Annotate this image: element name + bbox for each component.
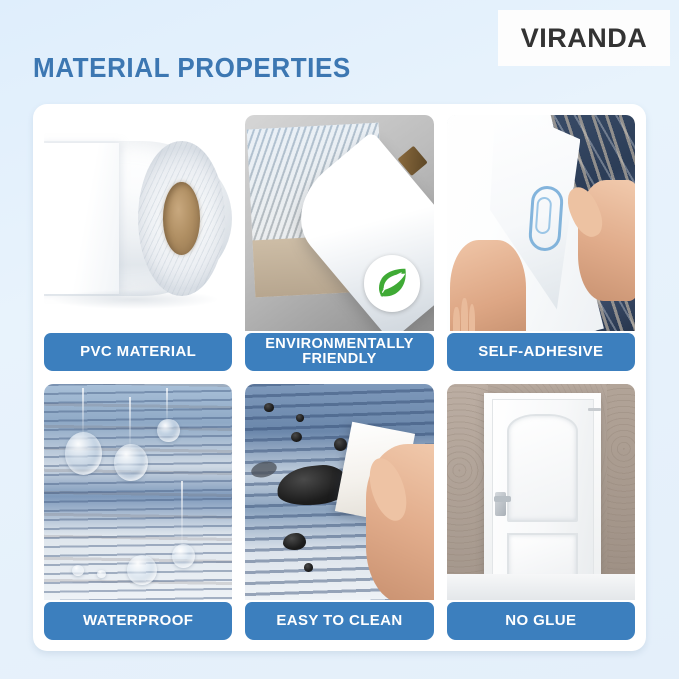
- feature-card-waterproof: WATERPROOF: [44, 384, 232, 640]
- door-hinge: [588, 408, 601, 411]
- water-droplet-6: [72, 565, 83, 576]
- features-panel: PVC MATERIAL: [33, 104, 646, 651]
- door-handle-lever: [494, 496, 511, 501]
- feature-card-pvc-material: PVC MATERIAL: [44, 115, 232, 371]
- paperclip-inner-icon: [535, 197, 553, 235]
- photo-water-droplets: [44, 384, 232, 600]
- feature-card-environmentally-friendly: ENVIRONMENTALLY FRIENDLY: [245, 115, 433, 371]
- droplet-trail-4: [181, 481, 183, 546]
- water-droplet-4: [127, 555, 157, 585]
- feature-card-easy-to-clean: EASY TO CLEAN: [245, 384, 433, 640]
- door-panel-top: [507, 414, 579, 522]
- photo-wiping-stains: [245, 384, 433, 600]
- feature-label-pvc-material: PVC MATERIAL: [44, 333, 232, 371]
- left-hand-shape: [450, 240, 525, 331]
- roll-sheet-shape: [44, 143, 119, 294]
- water-droplet-5: [172, 544, 195, 568]
- wall-left: [447, 384, 488, 600]
- droplet-trail-3: [166, 388, 168, 420]
- infographic-page: VIRANDA MATERIAL PROPERTIES PVC MATERIAL: [0, 0, 679, 679]
- finger-3: [469, 304, 476, 331]
- water-droplet-1: [65, 432, 103, 475]
- feature-card-self-adhesive: SELF-ADHESIVE: [447, 115, 635, 371]
- brand-name: VIRANDA: [521, 23, 648, 54]
- photo-white-pvc-roll: [44, 115, 232, 331]
- wall-right: [607, 384, 635, 600]
- stain-5: [283, 533, 306, 550]
- brand-badge: VIRANDA: [498, 10, 670, 66]
- eco-leaf-badge: [364, 255, 420, 311]
- droplet-trail-1: [82, 388, 84, 436]
- baseboard: [447, 574, 635, 600]
- feature-label-easy-to-clean: EASY TO CLEAN: [245, 602, 433, 640]
- feature-label-environmentally-friendly: ENVIRONMENTALLY FRIENDLY: [245, 333, 433, 371]
- stain-3: [291, 432, 302, 443]
- leaf-icon: [373, 264, 411, 302]
- feature-label-waterproof: WATERPROOF: [44, 602, 232, 640]
- finger-2: [461, 298, 468, 331]
- feature-card-no-glue: NO GLUE: [447, 384, 635, 640]
- feature-label-no-glue: NO GLUE: [447, 602, 635, 640]
- roll-shadow: [52, 290, 218, 309]
- stain-1: [264, 403, 273, 412]
- features-grid: PVC MATERIAL: [44, 115, 635, 640]
- stain-streak: [250, 459, 279, 480]
- water-droplet-3: [157, 419, 180, 443]
- photo-peeling-backing: [447, 115, 635, 331]
- water-droplet-7: [97, 570, 106, 579]
- feature-label-self-adhesive: SELF-ADHESIVE: [447, 333, 635, 371]
- water-droplet-2: [114, 444, 148, 481]
- photo-rolled-printed-film: [245, 115, 433, 331]
- photo-white-door: [447, 384, 635, 600]
- stain-2: [296, 414, 304, 422]
- stain-6: [304, 563, 313, 572]
- finger-1: [453, 307, 460, 331]
- droplet-trail-2: [129, 397, 131, 447]
- page-title: MATERIAL PROPERTIES: [33, 52, 351, 84]
- stain-4: [334, 438, 347, 451]
